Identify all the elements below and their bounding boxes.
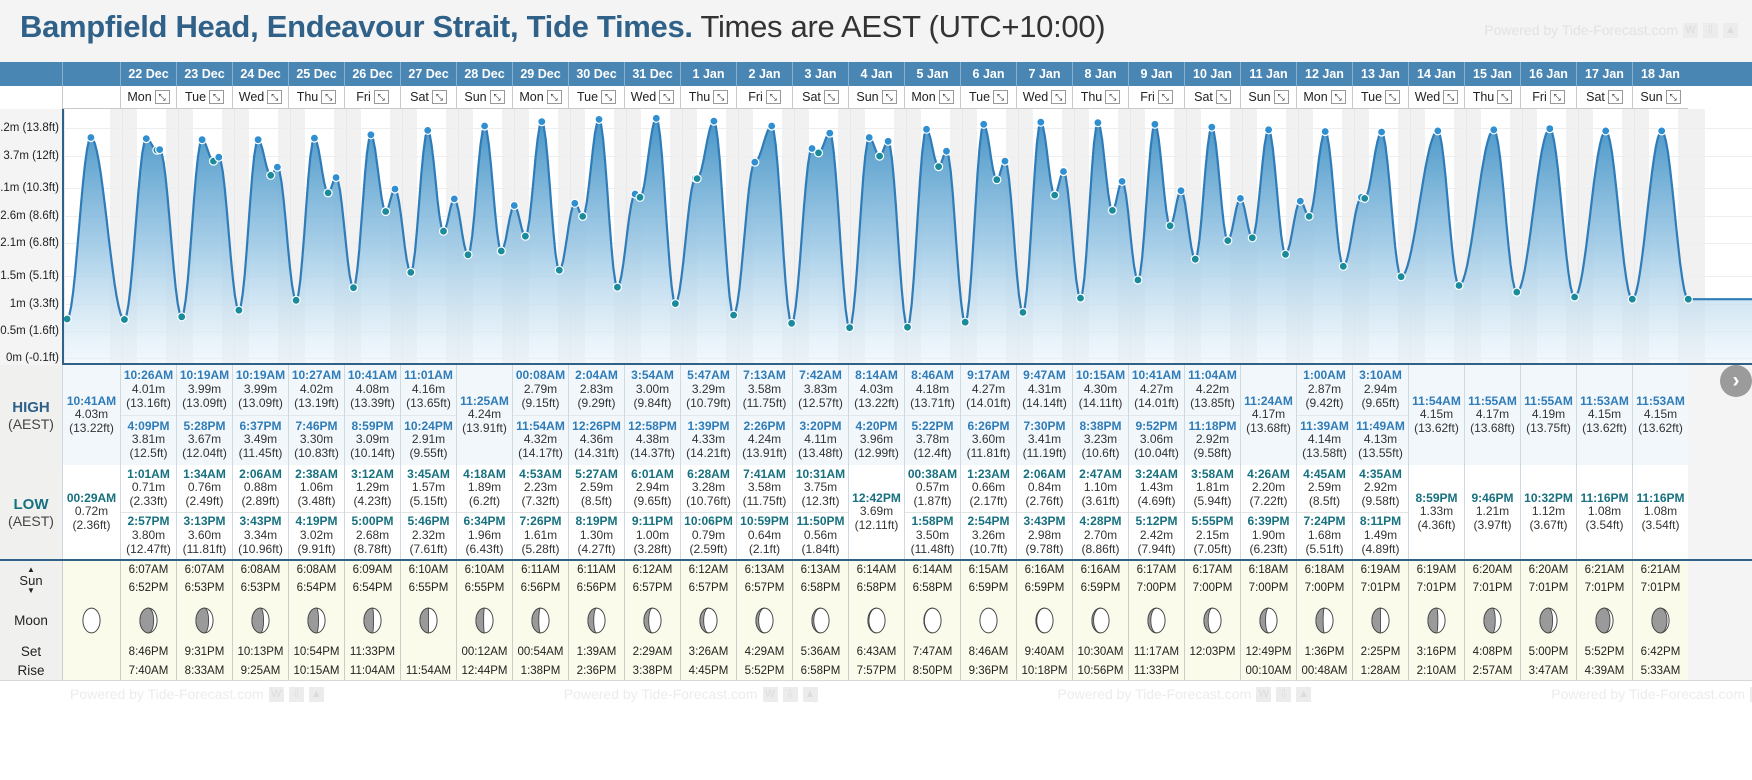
- sunrise-time: 6:09AM: [353, 562, 393, 580]
- low-tide-point[interactable]: [382, 208, 390, 216]
- expand-day-icon[interactable]: ⤡: [547, 90, 562, 104]
- weekday-header-cell[interactable]: Mon⤡: [120, 86, 176, 109]
- high-tide-point[interactable]: [273, 163, 281, 171]
- high-tide-point[interactable]: [710, 117, 718, 125]
- high-tide-point[interactable]: [142, 135, 150, 143]
- high-tide-point[interactable]: [215, 153, 223, 161]
- high-tide-point[interactable]: [943, 147, 951, 155]
- low-tide-point[interactable]: [1571, 293, 1579, 301]
- weekday-header-cell[interactable]: Thu⤡: [680, 86, 736, 109]
- sun-cell: 6:10AM6:55PM: [400, 561, 456, 599]
- low-tide-point[interactable]: [1077, 294, 1085, 302]
- high-tide-point[interactable]: [1490, 126, 1498, 134]
- weekday-header-cell[interactable]: Thu⤡: [1464, 86, 1520, 109]
- date-header-cell[interactable]: 5 Jan: [904, 62, 960, 86]
- low-tide-point[interactable]: [440, 227, 448, 235]
- tide-time: 6:01AM: [631, 468, 674, 482]
- tide-time: 5:47AM: [687, 369, 730, 383]
- high-tide-point[interactable]: [1296, 197, 1304, 205]
- low-tide-event: 3:45AM1.57m(5.15ft): [401, 465, 456, 512]
- date-header-cell[interactable]: 3 Jan: [792, 62, 848, 86]
- weekday-label: Mon: [911, 90, 935, 104]
- tide-height-m: 3.28m: [692, 481, 725, 495]
- high-tide-point[interactable]: [391, 185, 399, 193]
- weekday-label: Sat: [802, 90, 821, 104]
- expand-day-icon[interactable]: ⤡: [1497, 90, 1512, 104]
- date-header-cell[interactable]: 14 Jan: [1408, 62, 1464, 86]
- low-tide-point[interactable]: [292, 296, 300, 304]
- high-tide-point[interactable]: [1236, 194, 1244, 202]
- expand-day-icon[interactable]: ⤡: [882, 90, 897, 104]
- moonrise-cell: 5:33AM: [1632, 661, 1688, 680]
- high-tide-event: 10:41AM4.03m(13.22ft): [63, 365, 120, 465]
- moon-phase-icon: [1258, 607, 1279, 634]
- tide-height-m: 4.22m: [1196, 383, 1229, 397]
- high-tide-event: 10:24PM2.91m(9.55ft): [401, 415, 456, 466]
- high-tide-cell: 11:53AM4.15m(13.62ft): [1576, 365, 1632, 465]
- expand-day-icon[interactable]: ⤡: [993, 90, 1008, 104]
- tide-height-ft: (8.78ft): [353, 543, 391, 557]
- high-tide-event: 2:04AM2.83m(9.29ft): [569, 365, 624, 415]
- expand-day-icon[interactable]: ⤡: [1331, 90, 1346, 104]
- low-tide-cell: 11:16PM1.08m(3.54ft): [1632, 465, 1688, 559]
- tide-height-m: 4.01m: [132, 383, 165, 397]
- low-tide-point[interactable]: [613, 283, 621, 291]
- low-tide-point[interactable]: [1361, 194, 1369, 202]
- high-tide-point[interactable]: [1546, 125, 1554, 133]
- expand-day-icon[interactable]: ⤡: [155, 90, 170, 104]
- low-tide-point[interactable]: [788, 319, 796, 327]
- high-tide-point[interactable]: [652, 114, 660, 122]
- weekday-header-cell[interactable]: Sat⤡: [1184, 86, 1240, 109]
- high-tide-event: 3:54AM3.00m(9.84ft): [625, 365, 680, 415]
- expand-day-icon[interactable]: ⤡: [1274, 90, 1289, 104]
- high-tide-point[interactable]: [1658, 127, 1666, 135]
- weekday-header-cell[interactable]: Mon⤡: [1296, 86, 1352, 109]
- expand-day-icon[interactable]: ⤡: [713, 90, 728, 104]
- date-header-cell[interactable]: 2 Jan: [736, 62, 792, 86]
- weekday-header-cell[interactable]: Fri⤡: [1520, 86, 1576, 109]
- sun-cell: 6:09AM6:54PM: [344, 561, 400, 599]
- high-tide-point[interactable]: [1208, 123, 1216, 131]
- sunset-time: 6:58PM: [801, 580, 841, 598]
- weekday-header-cell[interactable]: Tue⤡: [1352, 86, 1408, 109]
- high-tide-point[interactable]: [884, 137, 892, 145]
- high-tide-cell: 9:17AM4.27m(14.01ft)6:26PM3.60m(11.81ft): [960, 365, 1016, 465]
- low-tide-event: 3:43PM2.98m(9.78ft): [1017, 512, 1072, 560]
- weekday-header-cell[interactable]: Mon⤡: [512, 86, 568, 109]
- date-header-cell[interactable]: 31 Dec: [624, 62, 680, 86]
- low-tide-event: 5:55PM2.15m(7.05ft): [1185, 512, 1240, 560]
- tide-height-m: 2.92m: [1364, 481, 1397, 495]
- date-header-cell[interactable]: 28 Dec: [456, 62, 512, 86]
- tide-time: 6:37PM: [239, 420, 281, 434]
- high-tide-point[interactable]: [450, 195, 458, 203]
- tide-time: 9:52PM: [1135, 420, 1177, 434]
- date-header-cell[interactable]: 22 Dec: [120, 62, 176, 86]
- low-tide-point[interactable]: [464, 251, 472, 259]
- expand-day-icon[interactable]: ⤡: [601, 90, 616, 104]
- low-tide-point[interactable]: [407, 268, 415, 276]
- high-tide-point[interactable]: [1094, 119, 1102, 127]
- sun-cell: 6:13AM6:58PM: [792, 561, 848, 599]
- high-tide-point[interactable]: [571, 199, 579, 207]
- low-tide-point[interactable]: [350, 284, 358, 292]
- low-tide-point[interactable]: [671, 300, 679, 308]
- low-tide-point[interactable]: [1455, 282, 1463, 290]
- high-tide-point[interactable]: [367, 131, 375, 139]
- low-tide-point[interactable]: [636, 193, 644, 201]
- tide-time: 4:35AM: [1359, 468, 1402, 482]
- moonset-cell: 9:31PM: [176, 642, 232, 661]
- weekday-header-cell[interactable]: Thu⤡: [288, 86, 344, 109]
- moonset-cell: 9:40AM: [1016, 642, 1072, 661]
- high-tide-cell: 10:41AM4.03m(13.22ft): [62, 365, 120, 465]
- high-tide-event: 1:39PM4.33m(14.21ft): [681, 415, 736, 466]
- moonrise-cell: 11:54AM: [400, 661, 456, 680]
- low-tide-point[interactable]: [521, 232, 529, 240]
- expand-day-icon[interactable]: ⤡: [1051, 90, 1066, 104]
- high-tide-point[interactable]: [481, 122, 489, 130]
- tide-height-ft: (14.01ft): [1134, 397, 1179, 411]
- sun-cell: 6:19AM7:01PM: [1352, 561, 1408, 599]
- weekday-header-cell[interactable]: Sat⤡: [792, 86, 848, 109]
- expand-day-icon[interactable]: ⤡: [1666, 90, 1681, 104]
- low-tide-point[interactable]: [235, 306, 243, 314]
- moonset-cell: [62, 642, 120, 661]
- date-header-cell[interactable]: 12 Jan: [1296, 62, 1352, 86]
- sunrise-time: 6:18AM: [1249, 562, 1289, 580]
- low-tide-point[interactable]: [693, 175, 701, 183]
- low-tide-point[interactable]: [1339, 262, 1347, 270]
- moonset-cell: [400, 642, 456, 661]
- tide-height-ft: (7.32ft): [521, 495, 559, 509]
- date-header-cell[interactable]: 13 Jan: [1352, 62, 1408, 86]
- moonset-cell: 7:47AM: [904, 642, 960, 661]
- high-tide-event: 10:19AM3.99m(13.09ft): [177, 365, 232, 415]
- tide-time: 11:18PM: [1188, 420, 1236, 434]
- tide-height-m: 4.27m: [1140, 383, 1173, 397]
- date-header-cell[interactable]: 6 Jan: [960, 62, 1016, 86]
- tide-height-ft: (1.84ft): [801, 543, 839, 557]
- date-header-cell[interactable]: [62, 62, 120, 86]
- tide-time: 00:08AM: [516, 369, 565, 383]
- high-tide-label-text: HIGH: [12, 399, 50, 416]
- tide-time: 2:47AM: [1079, 468, 1122, 482]
- tide-time: 10:59PM: [740, 515, 789, 529]
- weekday-header-cell[interactable]: Tue⤡: [176, 86, 232, 109]
- sunset-time: 7:01PM: [1361, 580, 1401, 598]
- low-tide-point[interactable]: [178, 313, 186, 321]
- high-tide-point[interactable]: [865, 134, 873, 142]
- expand-day-icon[interactable]: ⤡: [490, 90, 505, 104]
- date-header-cell[interactable]: 30 Dec: [568, 62, 624, 86]
- tide-height-ft: (13.62ft): [1414, 422, 1459, 436]
- low-tide-point[interactable]: [1224, 237, 1232, 245]
- tide-time: 10:31AM: [796, 468, 845, 482]
- tide-height-m: 1.57m: [412, 481, 445, 495]
- tide-height-m: 3.75m: [804, 481, 837, 495]
- next-page-button[interactable]: ›: [1720, 365, 1752, 397]
- low-tide-point[interactable]: [64, 315, 71, 323]
- low-tide-point[interactable]: [935, 163, 943, 171]
- weekday-label: Wed: [239, 90, 264, 104]
- low-tide-point[interactable]: [1684, 295, 1692, 303]
- sunrise-time: 6:14AM: [857, 562, 897, 580]
- date-header-cell[interactable]: 26 Dec: [344, 62, 400, 86]
- low-tide-point[interactable]: [1019, 308, 1027, 316]
- low-tide-point[interactable]: [846, 324, 854, 332]
- tide-time: 11:01AM: [404, 369, 453, 383]
- expand-day-icon[interactable]: ⤡: [374, 90, 389, 104]
- high-tide-event: 8:59PM3.09m(10.14ft): [345, 415, 400, 466]
- low-tide-point[interactable]: [1051, 191, 1059, 199]
- tide-height-ft: (9.65ft): [633, 495, 671, 509]
- weekday-label: Sat: [1194, 90, 1213, 104]
- low-tide-point[interactable]: [324, 189, 332, 197]
- high-tide-event: 11:55AM4.17m(13.68ft): [1465, 365, 1520, 465]
- weekday-header-cell[interactable]: Wed⤡: [1408, 86, 1464, 109]
- high-tide-point[interactable]: [87, 134, 95, 142]
- weekday-header-cell[interactable]: [62, 86, 120, 109]
- sunrise-time: 6:21AM: [1641, 562, 1681, 580]
- tide-time: 1:39PM: [687, 420, 729, 434]
- high-tide-point[interactable]: [768, 122, 776, 130]
- tide-time: 00:38AM: [908, 468, 957, 482]
- sunset-time: 7:01PM: [1529, 580, 1569, 598]
- weekday-label: Sun: [1640, 90, 1662, 104]
- expand-day-icon[interactable]: ⤡: [209, 90, 224, 104]
- high-tide-point[interactable]: [595, 115, 603, 123]
- low-tide-point[interactable]: [993, 176, 1001, 184]
- expand-day-icon[interactable]: ⤡: [432, 90, 447, 104]
- tide-height-ft: (10.76ft): [686, 495, 731, 509]
- high-tide-point[interactable]: [1434, 127, 1442, 135]
- weekday-header-cell[interactable]: Wed⤡: [624, 86, 680, 109]
- low-tide-point[interactable]: [1513, 288, 1521, 296]
- expand-day-icon[interactable]: ⤡: [321, 90, 336, 104]
- tide-height-ft: (2.17ft): [969, 495, 1007, 509]
- expand-day-icon[interactable]: ⤡: [659, 90, 674, 104]
- low-tide-point[interactable]: [1166, 222, 1174, 230]
- high-tide-point[interactable]: [1151, 120, 1159, 128]
- date-header-cell[interactable]: 27 Dec: [400, 62, 456, 86]
- sunset-time: 6:57PM: [745, 580, 785, 598]
- low-tide-point[interactable]: [120, 316, 128, 324]
- weekday-header-cell[interactable]: Sun⤡: [1240, 86, 1296, 109]
- tide-height-m: 4.15m: [1420, 408, 1453, 422]
- weekday-header-cell[interactable]: Mon⤡: [904, 86, 960, 109]
- high-tide-point[interactable]: [1265, 126, 1273, 134]
- low-tide-point[interactable]: [1248, 234, 1256, 242]
- weekday-header-cell[interactable]: Sat⤡: [400, 86, 456, 109]
- high-tide-point[interactable]: [510, 202, 518, 210]
- date-header-cell[interactable]: 18 Jan: [1632, 62, 1688, 86]
- high-tide-point[interactable]: [826, 129, 834, 137]
- high-tide-point[interactable]: [923, 125, 931, 133]
- tide-height-m: 4.08m: [356, 383, 389, 397]
- tide-height-m: 4.13m: [1364, 433, 1397, 447]
- high-tide-point[interactable]: [1118, 177, 1126, 185]
- weekday-header-cell[interactable]: Wed⤡: [232, 86, 288, 109]
- tide-height-ft: (11.75ft): [743, 397, 787, 411]
- date-header-cell[interactable]: 1 Jan: [680, 62, 736, 86]
- sun-cell: 6:07AM6:53PM: [176, 561, 232, 599]
- tide-height-m: 2.20m: [1252, 481, 1285, 495]
- date-header-cell[interactable]: 17 Jan: [1576, 62, 1632, 86]
- weekday-header-cell[interactable]: Sat⤡: [1576, 86, 1632, 109]
- low-tide-point[interactable]: [1628, 295, 1636, 303]
- low-tide-point[interactable]: [579, 212, 587, 220]
- tide-time: 2:54PM: [967, 515, 1009, 529]
- weekday-header-cell[interactable]: Fri⤡: [736, 86, 792, 109]
- date-header-cell[interactable]: 8 Jan: [1072, 62, 1128, 86]
- low-tide-point[interactable]: [1397, 273, 1405, 281]
- moon-phase-icon: [866, 607, 887, 634]
- tide-height-ft: (10.04ft): [1134, 447, 1179, 461]
- moon-phase-cell: [1352, 599, 1408, 642]
- tide-height-ft: (10.79ft): [686, 397, 731, 411]
- expand-day-icon[interactable]: ⤡: [1385, 90, 1400, 104]
- high-tide-point[interactable]: [198, 136, 206, 144]
- high-tide-point[interactable]: [310, 134, 318, 142]
- high-tide-point[interactable]: [1060, 168, 1068, 176]
- tide-height-ft: (7.61ft): [409, 543, 447, 557]
- high-tide-event: 9:17AM4.27m(14.01ft): [961, 365, 1016, 415]
- tide-time: 10:41AM: [348, 369, 397, 383]
- tide-height-ft: (12.11ft): [855, 519, 899, 533]
- high-tide-cell: 5:47AM3.29m(10.79ft)1:39PM4.33m(14.21ft): [680, 365, 736, 465]
- weekday-header-cell[interactable]: Sun⤡: [456, 86, 512, 109]
- high-tide-point[interactable]: [1321, 128, 1329, 136]
- tide-height-ft: (1.87ft): [913, 495, 951, 509]
- high-tide-point[interactable]: [980, 120, 988, 128]
- low-tide-point[interactable]: [876, 152, 884, 160]
- tide-height-ft: (13.22ft): [854, 397, 899, 411]
- weekday-label: Wed: [631, 90, 656, 104]
- high-tide-point[interactable]: [538, 118, 546, 126]
- tide-height-m: 2.70m: [1084, 529, 1117, 543]
- high-tide-point[interactable]: [1037, 118, 1045, 126]
- expand-day-icon[interactable]: ⤡: [267, 90, 282, 104]
- high-tide-point[interactable]: [751, 158, 759, 166]
- date-header-cell[interactable]: 16 Jan: [1520, 62, 1576, 86]
- weekday-header-cell[interactable]: Tue⤡: [960, 86, 1016, 109]
- tide-height-m: 1.10m: [1084, 481, 1117, 495]
- weekday-header-cell[interactable]: Tue⤡: [568, 86, 624, 109]
- expand-day-icon[interactable]: ⤡: [824, 90, 839, 104]
- low-tide-point[interactable]: [1191, 255, 1199, 263]
- expand-day-icon[interactable]: ⤡: [1105, 90, 1120, 104]
- sun-cell: 6:13AM6:57PM: [736, 561, 792, 599]
- high-tide-point[interactable]: [424, 126, 432, 134]
- low-tide-point[interactable]: [555, 266, 563, 274]
- low-tide-cells: 00:29AM0.72m(2.36ft)1:01AM0.71m(2.33ft)2…: [62, 465, 1688, 559]
- date-header-cell[interactable]: 7 Jan: [1016, 62, 1072, 86]
- expand-day-icon[interactable]: ⤡: [1443, 90, 1458, 104]
- expand-day-icon[interactable]: ⤡: [1216, 90, 1231, 104]
- tide-time: 9:17AM: [967, 369, 1010, 383]
- low-tide-point[interactable]: [1282, 250, 1290, 258]
- chart-plot-area[interactable]: [62, 109, 1752, 365]
- low-tide-event: 1:23AM0.66m(2.17ft): [961, 465, 1016, 512]
- high-tide-point[interactable]: [332, 174, 340, 182]
- date-header-cell[interactable]: 11 Jan: [1240, 62, 1296, 86]
- moon-phase-cell: [176, 599, 232, 642]
- tide-height-m: 0.56m: [804, 529, 837, 543]
- weekday-header-cell[interactable]: Thu⤡: [1072, 86, 1128, 109]
- moon-phase-icon: [250, 607, 271, 634]
- low-tide-point[interactable]: [730, 311, 738, 319]
- date-header-cell[interactable]: 25 Dec: [288, 62, 344, 86]
- tide-height-m: 4.18m: [916, 383, 949, 397]
- low-tide-event: 4:45AM2.59m(8.5ft): [1297, 465, 1352, 512]
- date-header-cell[interactable]: 29 Dec: [512, 62, 568, 86]
- sun-cell: 6:11AM6:56PM: [512, 561, 568, 599]
- date-header-cell[interactable]: 23 Dec: [176, 62, 232, 86]
- high-tide-event: 6:26PM3.60m(11.81ft): [961, 415, 1016, 466]
- low-tide-point[interactable]: [1305, 212, 1313, 220]
- low-tide-cell: 2:38AM1.06m(3.48ft)4:19PM3.02m(9.91ft): [288, 465, 344, 559]
- tide-height-ft: (9.15ft): [521, 397, 559, 411]
- tide-height-ft: (3.48ft): [297, 495, 335, 509]
- high-tide-point[interactable]: [254, 136, 262, 144]
- weekday-header-cell[interactable]: Sun⤡: [848, 86, 904, 109]
- expand-day-icon[interactable]: ⤡: [1608, 90, 1623, 104]
- low-tide-cell: 2:47AM1.10m(3.61ft)4:28PM2.70m(8.86ft): [1072, 465, 1128, 559]
- tide-height-ft: (3.54ft): [1585, 519, 1623, 533]
- low-tide-point[interactable]: [1108, 206, 1116, 214]
- weekday-header-cell[interactable]: Wed⤡: [1016, 86, 1072, 109]
- tide-height-ft: (12.5ft): [129, 447, 167, 461]
- weekday-header-cell[interactable]: Fri⤡: [344, 86, 400, 109]
- tide-height-m: 3.00m: [636, 383, 669, 397]
- high-tide-point[interactable]: [1177, 187, 1185, 195]
- date-header-cell[interactable]: 10 Jan: [1184, 62, 1240, 86]
- footer-watermarks: Powered by Tide-Forecast.comW⇩▲Powered b…: [62, 683, 1752, 705]
- tide-height-m: 4.19m: [1532, 408, 1565, 422]
- moon-phase-icon: [306, 607, 327, 634]
- high-tide-point[interactable]: [1602, 127, 1610, 135]
- date-header-cell[interactable]: 4 Jan: [848, 62, 904, 86]
- high-tide-point[interactable]: [1378, 128, 1386, 136]
- date-header-cell[interactable]: 9 Jan: [1128, 62, 1184, 86]
- tide-time: 10:32PM: [1524, 492, 1573, 506]
- tide-time: 5:27AM: [575, 468, 618, 482]
- low-tide-point[interactable]: [904, 323, 912, 331]
- low-tide-point[interactable]: [815, 149, 823, 157]
- weekday-header-cell[interactable]: Fri⤡: [1128, 86, 1184, 109]
- high-tide-event: 5:28PM3.67m(12.04ft): [177, 415, 232, 466]
- weekday-header-cell[interactable]: Sun⤡: [1632, 86, 1688, 109]
- expand-day-icon[interactable]: ⤡: [1158, 90, 1173, 104]
- low-tide-event: 5:27AM2.59m(8.5ft): [569, 465, 624, 512]
- high-tide-point[interactable]: [1001, 157, 1009, 165]
- tide-height-m: 4.30m: [1084, 383, 1117, 397]
- sun-cell: 6:18AM7:00PM: [1296, 561, 1352, 599]
- low-tide-point[interactable]: [497, 247, 505, 255]
- low-tide-point[interactable]: [961, 318, 969, 326]
- low-tide-point[interactable]: [267, 171, 275, 179]
- low-tide-point[interactable]: [1134, 276, 1142, 284]
- tide-height-ft: (3.67ft): [1529, 519, 1567, 533]
- date-header-cell[interactable]: 24 Dec: [232, 62, 288, 86]
- expand-day-icon[interactable]: ⤡: [1550, 90, 1565, 104]
- high-tide-point[interactable]: [156, 146, 164, 154]
- expand-day-icon[interactable]: ⤡: [939, 90, 954, 104]
- expand-day-icon[interactable]: ⤡: [766, 90, 781, 104]
- date-header-cell[interactable]: 15 Jan: [1464, 62, 1520, 86]
